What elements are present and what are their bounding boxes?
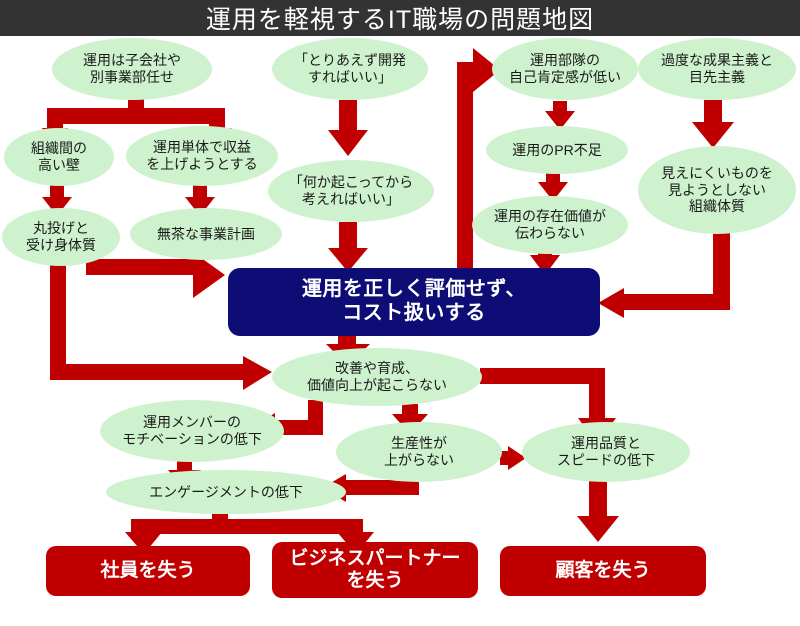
node-n12[interactable]: 見えにくいものを見ようとしない組織体質 bbox=[638, 146, 796, 234]
node-n4[interactable]: 丸投げと受け身体質 bbox=[2, 208, 120, 266]
node-n15-label: 運用メンバーのモチベーションの低下 bbox=[100, 414, 284, 447]
node-n3-label: 運用単体で収益を上げようとする bbox=[126, 139, 278, 172]
node-n2-label: 組織間の高い壁 bbox=[4, 140, 114, 173]
node-n21-label: 顧客を失う bbox=[500, 560, 706, 582]
node-n5[interactable]: 無茶な事業計画 bbox=[130, 208, 282, 260]
arrow-n17-n21 bbox=[577, 478, 619, 542]
page-title-bar: 運用を軽視するIT職場の問題地図 bbox=[0, 0, 800, 36]
node-n16[interactable]: 生産性が上がらない bbox=[336, 422, 502, 482]
node-n18[interactable]: エンゲージメントの低下 bbox=[106, 470, 346, 514]
arrow-n11-n12 bbox=[692, 100, 734, 148]
node-n10-label: 運用の存在価値が伝わらない bbox=[472, 208, 628, 241]
node-n6-label: 「とりあえず開発すればいい」 bbox=[272, 52, 428, 85]
node-n11[interactable]: 過度な成果主義と目先主義 bbox=[638, 38, 796, 100]
node-n1[interactable]: 運用は子会社や別事業部任せ bbox=[52, 38, 212, 100]
node-n11-label: 過度な成果主義と目先主義 bbox=[638, 52, 796, 85]
node-n20[interactable]: ビジネスパートナーを失う bbox=[272, 542, 478, 598]
node-n6[interactable]: 「とりあえず開発すればいい」 bbox=[272, 38, 428, 100]
node-n20-label: ビジネスパートナーを失う bbox=[272, 548, 478, 593]
node-n9-label: 運用のPR不足 bbox=[486, 142, 628, 159]
node-n13[interactable]: 運用を正しく評価せず、コスト扱いする bbox=[228, 268, 600, 336]
node-n3[interactable]: 運用単体で収益を上げようとする bbox=[126, 126, 278, 186]
node-n17-label: 運用品質とスピードの低下 bbox=[522, 435, 690, 468]
node-n14[interactable]: 改善や育成、価値向上が起こらない bbox=[272, 348, 482, 406]
page-title: 運用を軽視するIT職場の問題地図 bbox=[206, 0, 594, 36]
arrow-n6-n7 bbox=[328, 100, 368, 156]
arrow-n7-n13 bbox=[328, 222, 368, 272]
node-n8[interactable]: 運用部隊の自己肯定感が低い bbox=[492, 38, 638, 100]
node-n4-label: 丸投げと受け身体質 bbox=[2, 220, 120, 253]
node-n5-label: 無茶な事業計画 bbox=[130, 226, 282, 243]
node-n12-label: 見えにくいものを見ようとしない組織体質 bbox=[638, 165, 796, 215]
node-n7[interactable]: 「何か起こってから考えればいい」 bbox=[268, 160, 434, 222]
node-n7-label: 「何か起こってから考えればいい」 bbox=[268, 174, 434, 207]
diagram-canvas: 運用を軽視するIT職場の問題地図 .ar { fill:#c00000; } bbox=[0, 0, 800, 626]
node-n16-label: 生産性が上がらない bbox=[336, 435, 502, 468]
node-n17[interactable]: 運用品質とスピードの低下 bbox=[522, 422, 690, 482]
node-n8-label: 運用部隊の自己肯定感が低い bbox=[492, 52, 638, 85]
arrow-n12-n13 bbox=[598, 232, 730, 318]
node-n15[interactable]: 運用メンバーのモチベーションの低下 bbox=[100, 400, 284, 462]
node-n13-label: 運用を正しく評価せず、コスト扱いする bbox=[228, 278, 600, 325]
node-n14-label: 改善や育成、価値向上が起こらない bbox=[272, 360, 482, 393]
node-n19-label: 社員を失う bbox=[46, 560, 250, 582]
node-n18-label: エンゲージメントの低下 bbox=[106, 484, 346, 501]
node-n19[interactable]: 社員を失う bbox=[46, 546, 250, 596]
node-n21[interactable]: 顧客を失う bbox=[500, 546, 706, 596]
node-n1-label: 運用は子会社や別事業部任せ bbox=[52, 52, 212, 85]
node-n2[interactable]: 組織間の高い壁 bbox=[4, 128, 114, 186]
node-n10[interactable]: 運用の存在価値が伝わらない bbox=[472, 196, 628, 254]
node-n9[interactable]: 運用のPR不足 bbox=[486, 126, 628, 174]
